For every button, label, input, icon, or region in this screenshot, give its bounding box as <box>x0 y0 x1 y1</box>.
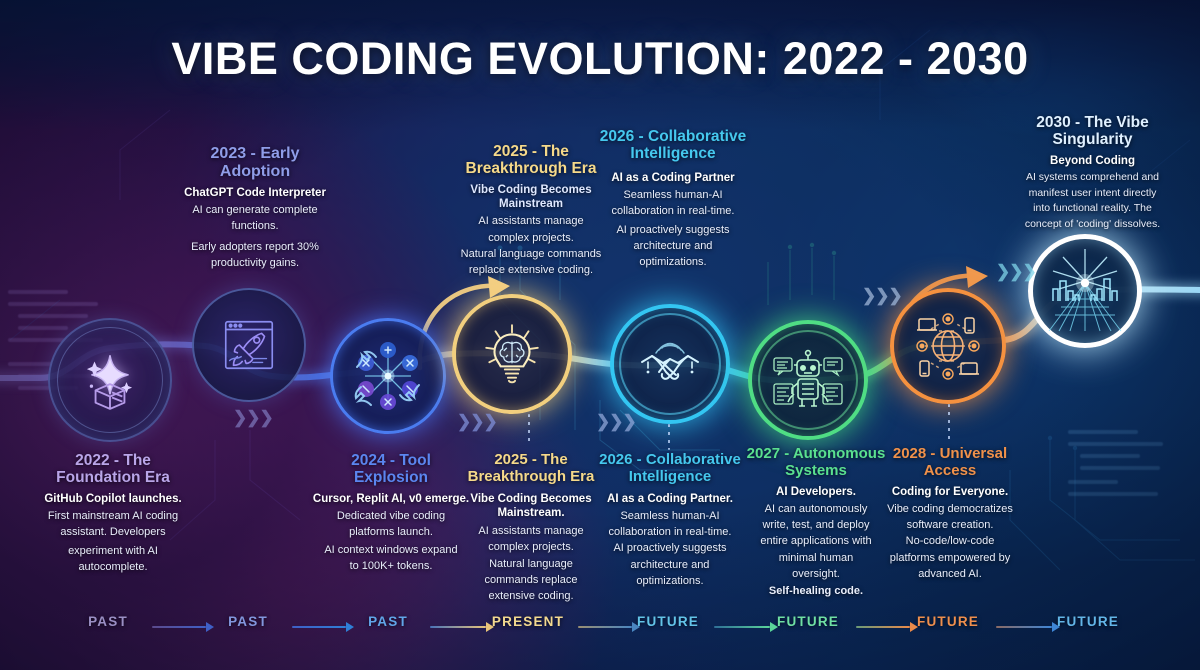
chevron-separator-icon: ❯❯❯ <box>862 286 902 306</box>
singularity-city-icon <box>1028 234 1142 348</box>
milestone-body-2026-below: Seamless human-AI collaboration in real-… <box>590 509 750 588</box>
timeline-node-2022[interactable] <box>48 318 172 442</box>
chevron-separator-icon: ❯❯❯ <box>996 262 1036 282</box>
milestone-body-2026-above: Seamless human-AI collaboration in real-… <box>588 188 758 269</box>
globe-network-icon <box>890 288 1006 404</box>
timeline-node-2027[interactable] <box>748 320 868 440</box>
leader-line-2026 <box>668 424 670 450</box>
page-title: VIBE CODING EVOLUTION: 2022 - 2030 <box>0 33 1200 85</box>
milestone-block-2026-above: 2026 - Collaborative Intelligence AI as … <box>588 128 758 271</box>
milestone-body-2028: Vibe coding democratizes software creati… <box>868 502 1032 581</box>
milestone-heading-2026-above: 2026 - Collaborative Intelligence <box>588 128 758 163</box>
axis-label: PAST <box>88 614 128 629</box>
milestone-subtitle-2025-below: Vibe Coding Becomes Mainstream. <box>452 492 610 521</box>
chevron-separator-icon: ❯❯❯ <box>233 408 273 428</box>
milestone-heading-2022: 2022 - The Foundation Era <box>18 452 208 487</box>
milestone-block-2028: 2028 - Universal Access Coding for Every… <box>868 446 1032 583</box>
lightbulb-brain-icon <box>452 294 572 414</box>
milestone-body-2025-below: AI assistants manage complex projects. N… <box>452 524 610 603</box>
axis-label: FUTURE <box>777 614 839 629</box>
axis-arrow <box>152 622 214 632</box>
chevron-separator-icon: ❯❯❯ <box>457 412 497 432</box>
axis-arrow <box>714 622 778 632</box>
timeline-node-2026[interactable] <box>610 304 730 424</box>
timeline-node-2028[interactable] <box>890 288 1006 404</box>
milestone-body-2022: First mainstream AI coding assistant. De… <box>18 509 208 574</box>
milestone-subtitle-2026-above: AI as a Coding Partner <box>588 171 758 185</box>
milestone-heading-2025-below: 2025 - The Breakthrough Era <box>452 452 610 486</box>
milestone-subtitle-2022: GitHub Copilot launches. <box>18 492 208 506</box>
milestone-heading-2028: 2028 - Universal Access <box>868 446 1032 480</box>
axis-arrow <box>292 622 354 632</box>
timeline-node-2025[interactable] <box>452 294 572 414</box>
robot-icon <box>748 320 868 440</box>
axis-arrow <box>996 622 1060 632</box>
time-axis: PAST PAST PAST PRESENT FUTURE FUTURE FUT… <box>0 614 1200 640</box>
milestone-block-2025-below: 2025 - The Breakthrough Era Vibe Coding … <box>452 452 610 606</box>
milestone-body-2030: AI systems comprehend and manifest user … <box>985 171 1200 232</box>
milestone-block-2030: 2030 - The Vibe Singularity Beyond Codin… <box>985 114 1200 234</box>
timeline-node-2030[interactable] <box>1028 234 1142 348</box>
axis-arrow <box>430 622 494 632</box>
tools-burst-icon <box>330 318 446 434</box>
timeline-node-2024[interactable] <box>330 318 446 434</box>
handshake-icon <box>610 304 730 424</box>
axis-label: FUTURE <box>1057 614 1119 629</box>
milestone-block-2026-below: 2026 - Collaborative Intelligence AI as … <box>590 452 750 590</box>
milestone-subtitle-2030: Beyond Coding <box>985 154 1200 168</box>
rocket-launch-icon <box>192 288 306 402</box>
leader-line-2025 <box>528 414 530 446</box>
axis-arrow <box>856 622 918 632</box>
axis-label: FUTURE <box>637 614 699 629</box>
axis-label: PRESENT <box>492 614 564 629</box>
axis-label: PAST <box>228 614 268 629</box>
axis-arrow <box>578 622 640 632</box>
milestone-heading-2030: 2030 - The Vibe Singularity <box>985 114 1200 149</box>
milestone-subtitle-2026-below: AI as a Coding Partner. <box>590 492 750 506</box>
milestone-block-2023: 2023 - Early Adoption ChatGPT Code Inter… <box>155 145 355 272</box>
milestone-heading-2026-below: 2026 - Collaborative Intelligence <box>590 452 750 486</box>
infographic-canvas: VIBE CODING EVOLUTION: 2022 - 2030 <box>0 0 1200 670</box>
milestone-subtitle-2028: Coding for Everyone. <box>868 485 1032 499</box>
timeline-node-2023[interactable] <box>192 288 306 402</box>
milestone-block-2022: 2022 - The Foundation Era GitHub Copilot… <box>18 452 208 576</box>
leader-line-2028 <box>948 404 950 440</box>
sparkle-box-icon <box>48 318 172 442</box>
milestone-heading-2023: 2023 - Early Adoption <box>155 145 355 181</box>
axis-label: PAST <box>368 614 408 629</box>
chevron-separator-icon: ❯❯❯ <box>596 412 636 432</box>
milestone-subtitle-2023: ChatGPT Code Interpreter <box>155 186 355 200</box>
milestone-body-2023: AI can generate complete functions. Earl… <box>155 203 355 270</box>
axis-label: FUTURE <box>917 614 979 629</box>
